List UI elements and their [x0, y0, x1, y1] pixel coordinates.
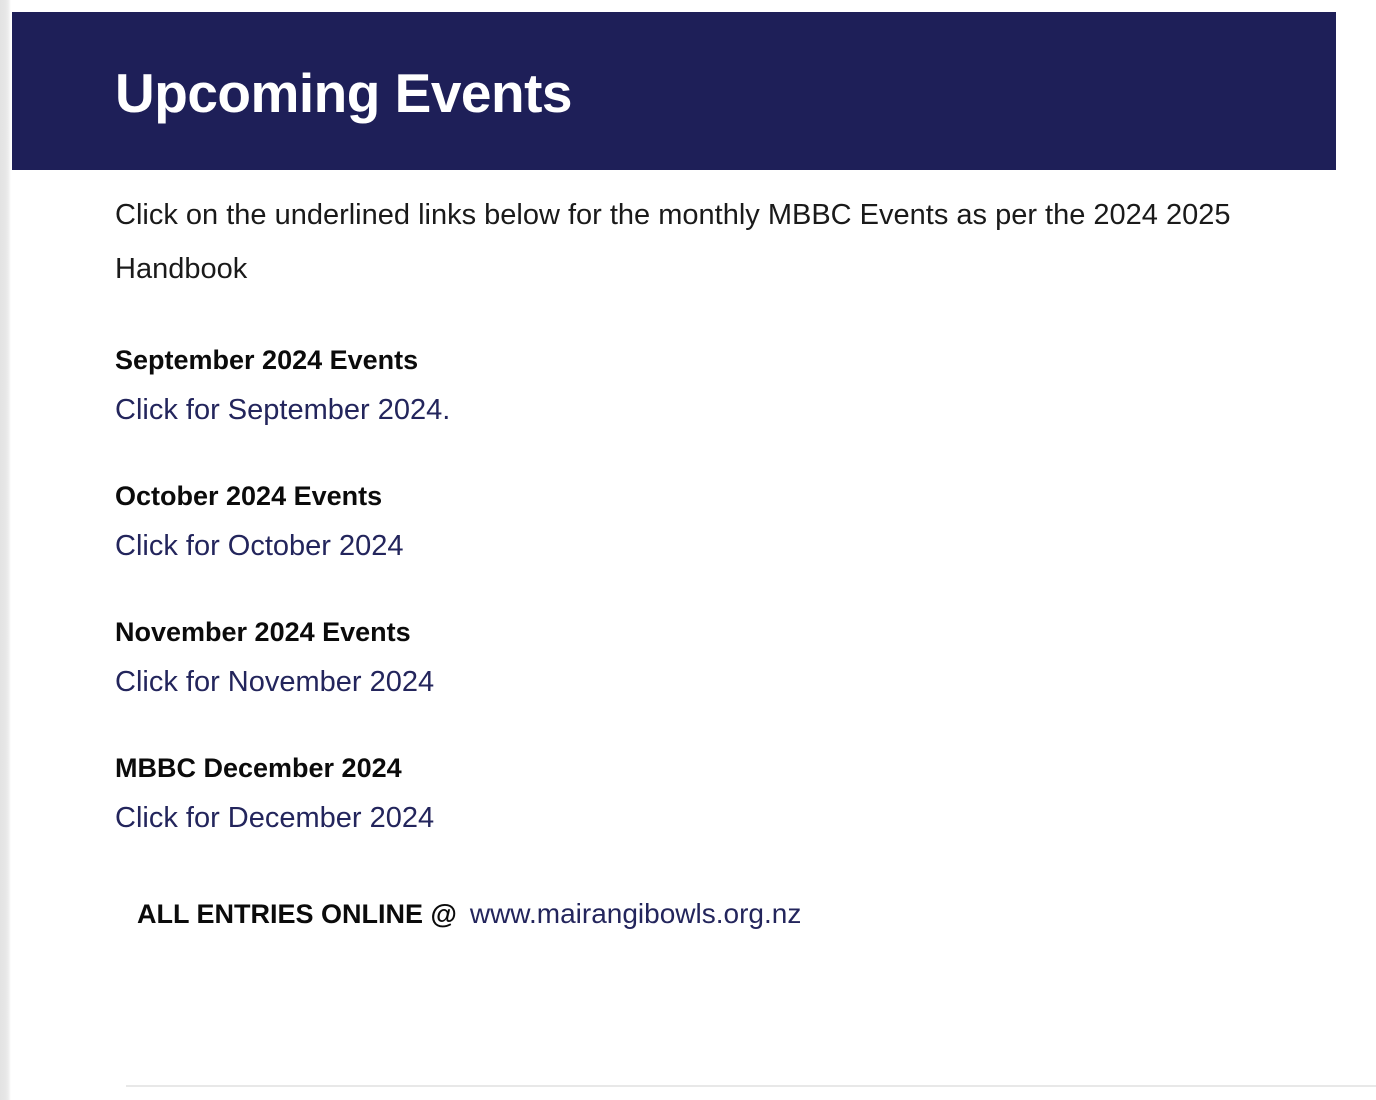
main-content: Click on the underlined links below for …: [115, 188, 1290, 930]
event-block-november: November 2024 Events Click for November …: [115, 615, 1290, 699]
page-header-banner: Upcoming Events: [12, 12, 1336, 170]
event-block-december: MBBC December 2024 Click for December 20…: [115, 751, 1290, 835]
entries-online-line: ALL ENTRIES ONLINE @www.mairangibowls.or…: [115, 898, 1290, 930]
event-block-september: September 2024 Events Click for Septembe…: [115, 343, 1290, 427]
event-heading-september: September 2024 Events: [115, 343, 1290, 377]
event-heading-october: October 2024 Events: [115, 479, 1290, 513]
page-title: Upcoming Events: [115, 58, 572, 128]
event-heading-november: November 2024 Events: [115, 615, 1290, 649]
page-edge-shadow: [0, 0, 11, 1100]
intro-paragraph: Click on the underlined links below for …: [115, 188, 1275, 296]
club-website-link[interactable]: www.mairangibowls.org.nz: [470, 898, 801, 929]
events-list: September 2024 Events Click for Septembe…: [115, 343, 1290, 835]
event-link-september[interactable]: Click for September 2024.: [115, 393, 450, 427]
entries-online-label: ALL ENTRIES ONLINE @: [137, 899, 457, 929]
bottom-divider: [126, 1085, 1376, 1087]
event-link-october[interactable]: Click for October 2024: [115, 529, 404, 563]
event-link-november[interactable]: Click for November 2024: [115, 665, 434, 699]
page-container: Upcoming Events Click on the underlined …: [11, 0, 1376, 1100]
event-block-october: October 2024 Events Click for October 20…: [115, 479, 1290, 563]
event-link-december[interactable]: Click for December 2024: [115, 801, 434, 835]
event-heading-december: MBBC December 2024: [115, 751, 1290, 785]
